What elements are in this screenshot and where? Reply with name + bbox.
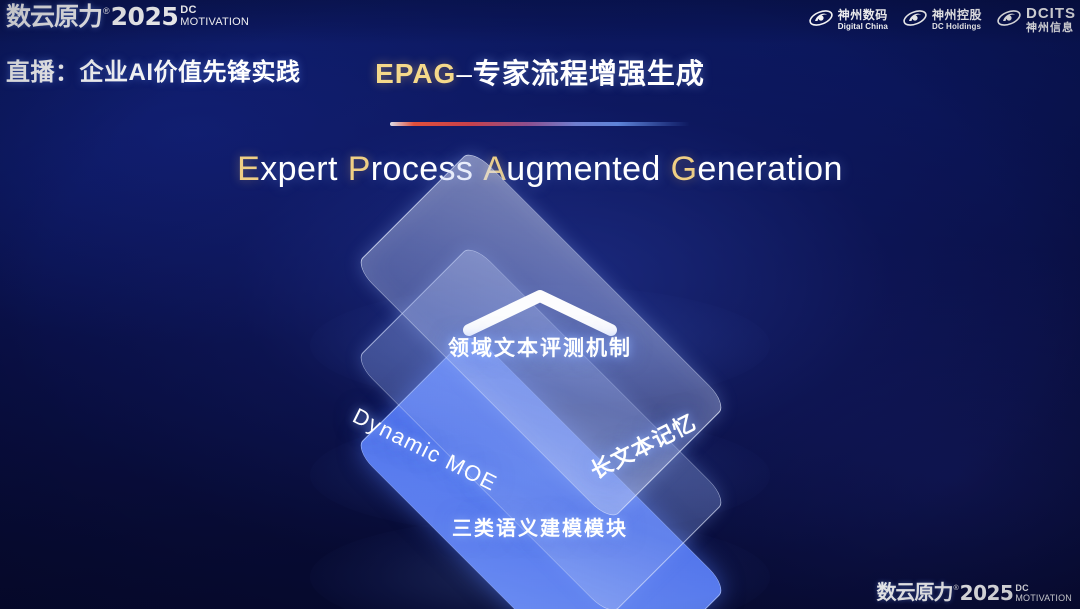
watermark-dc-line1: DC — [1015, 584, 1072, 593]
title-divider — [390, 122, 690, 126]
swirl-icon — [902, 7, 928, 34]
subtitle-rest-augmented: ugmented — [506, 150, 660, 188]
page-title: EPAG–专家流程增强生成 — [0, 52, 1080, 92]
brand-logo: 数云原力 ® 2025 DC MOTIVATION — [6, 3, 249, 33]
swirl-icon — [996, 7, 1022, 34]
subtitle-space-3 — [661, 150, 671, 188]
brand-dc-motivation: DC MOTIVATION — [180, 3, 249, 28]
watermark-name-cn: 数云原力 — [876, 582, 952, 605]
registered-mark: ® — [103, 5, 110, 17]
subtitle-rest-expert: xpert — [260, 150, 338, 188]
partner-logo-digital-china: 神州数码 Digital China — [808, 7, 888, 34]
partner-logo-group: 神州数码 Digital China 神州控股 DC Holdings — [808, 6, 1076, 34]
partner-name-cn: 神州数码 — [838, 9, 888, 22]
partner-name-en: Digital China — [838, 22, 888, 32]
partner-name-en: DC Holdings — [932, 22, 982, 32]
watermark-dc-motivation: DC MOTIVATION — [1015, 582, 1072, 603]
brand-dc-line1: DC — [180, 5, 249, 16]
partner-logo-text: DCITS 神州信息 — [1026, 6, 1076, 34]
brand-watermark: 数云原力 ® 2025 DC MOTIVATION — [876, 582, 1072, 605]
subtitle-space-1 — [338, 150, 348, 188]
stack-layer-top-label: 领域文本评测机制 — [268, 332, 812, 362]
swirl-icon — [808, 7, 834, 34]
watermark-year: 2025 — [960, 582, 1014, 605]
subtitle: Expert Process Augmented Generation — [0, 150, 1080, 189]
brand-dc-line2: MOTIVATION — [180, 16, 249, 28]
partner-logo-dcits: DCITS 神州信息 — [996, 6, 1076, 34]
layer-stack-diagram: 领域文本评测机制 Dynamic MOE 长文本记忆 三类语义建模模块 — [268, 225, 812, 565]
partner-name-en: 神州信息 — [1026, 22, 1076, 34]
subtitle-cap-p: P — [348, 150, 371, 188]
title-subject: 专家流程增强生成 — [473, 58, 705, 89]
slide-canvas: 数云原力 ® 2025 DC MOTIVATION 直播：企业AI价值先锋实践 … — [0, 0, 1080, 609]
watermark-registered-mark: ® — [953, 584, 958, 594]
partner-logo-text: 神州控股 DC Holdings — [932, 9, 982, 32]
partner-name-cn: 神州控股 — [932, 9, 982, 22]
chevron-up-icon — [459, 286, 621, 338]
title-acronym: EPAG — [375, 58, 456, 89]
partner-logo-text: 神州数码 Digital China — [838, 9, 888, 32]
brand-name-cn: 数云原力 — [6, 3, 102, 31]
brand-year: 2025 — [111, 3, 179, 31]
watermark-dc-line2: MOTIVATION — [1015, 593, 1072, 603]
subtitle-cap-g: G — [671, 150, 698, 188]
title-dash: – — [456, 58, 473, 89]
subtitle-rest-generation: eneration — [697, 150, 842, 188]
partner-name-cn: DCITS — [1026, 6, 1076, 22]
partner-logo-dc-holdings: 神州控股 DC Holdings — [902, 7, 982, 34]
stack-layer-bottom-label: 三类语义建模模块 — [268, 512, 812, 541]
subtitle-cap-e: E — [237, 150, 260, 188]
